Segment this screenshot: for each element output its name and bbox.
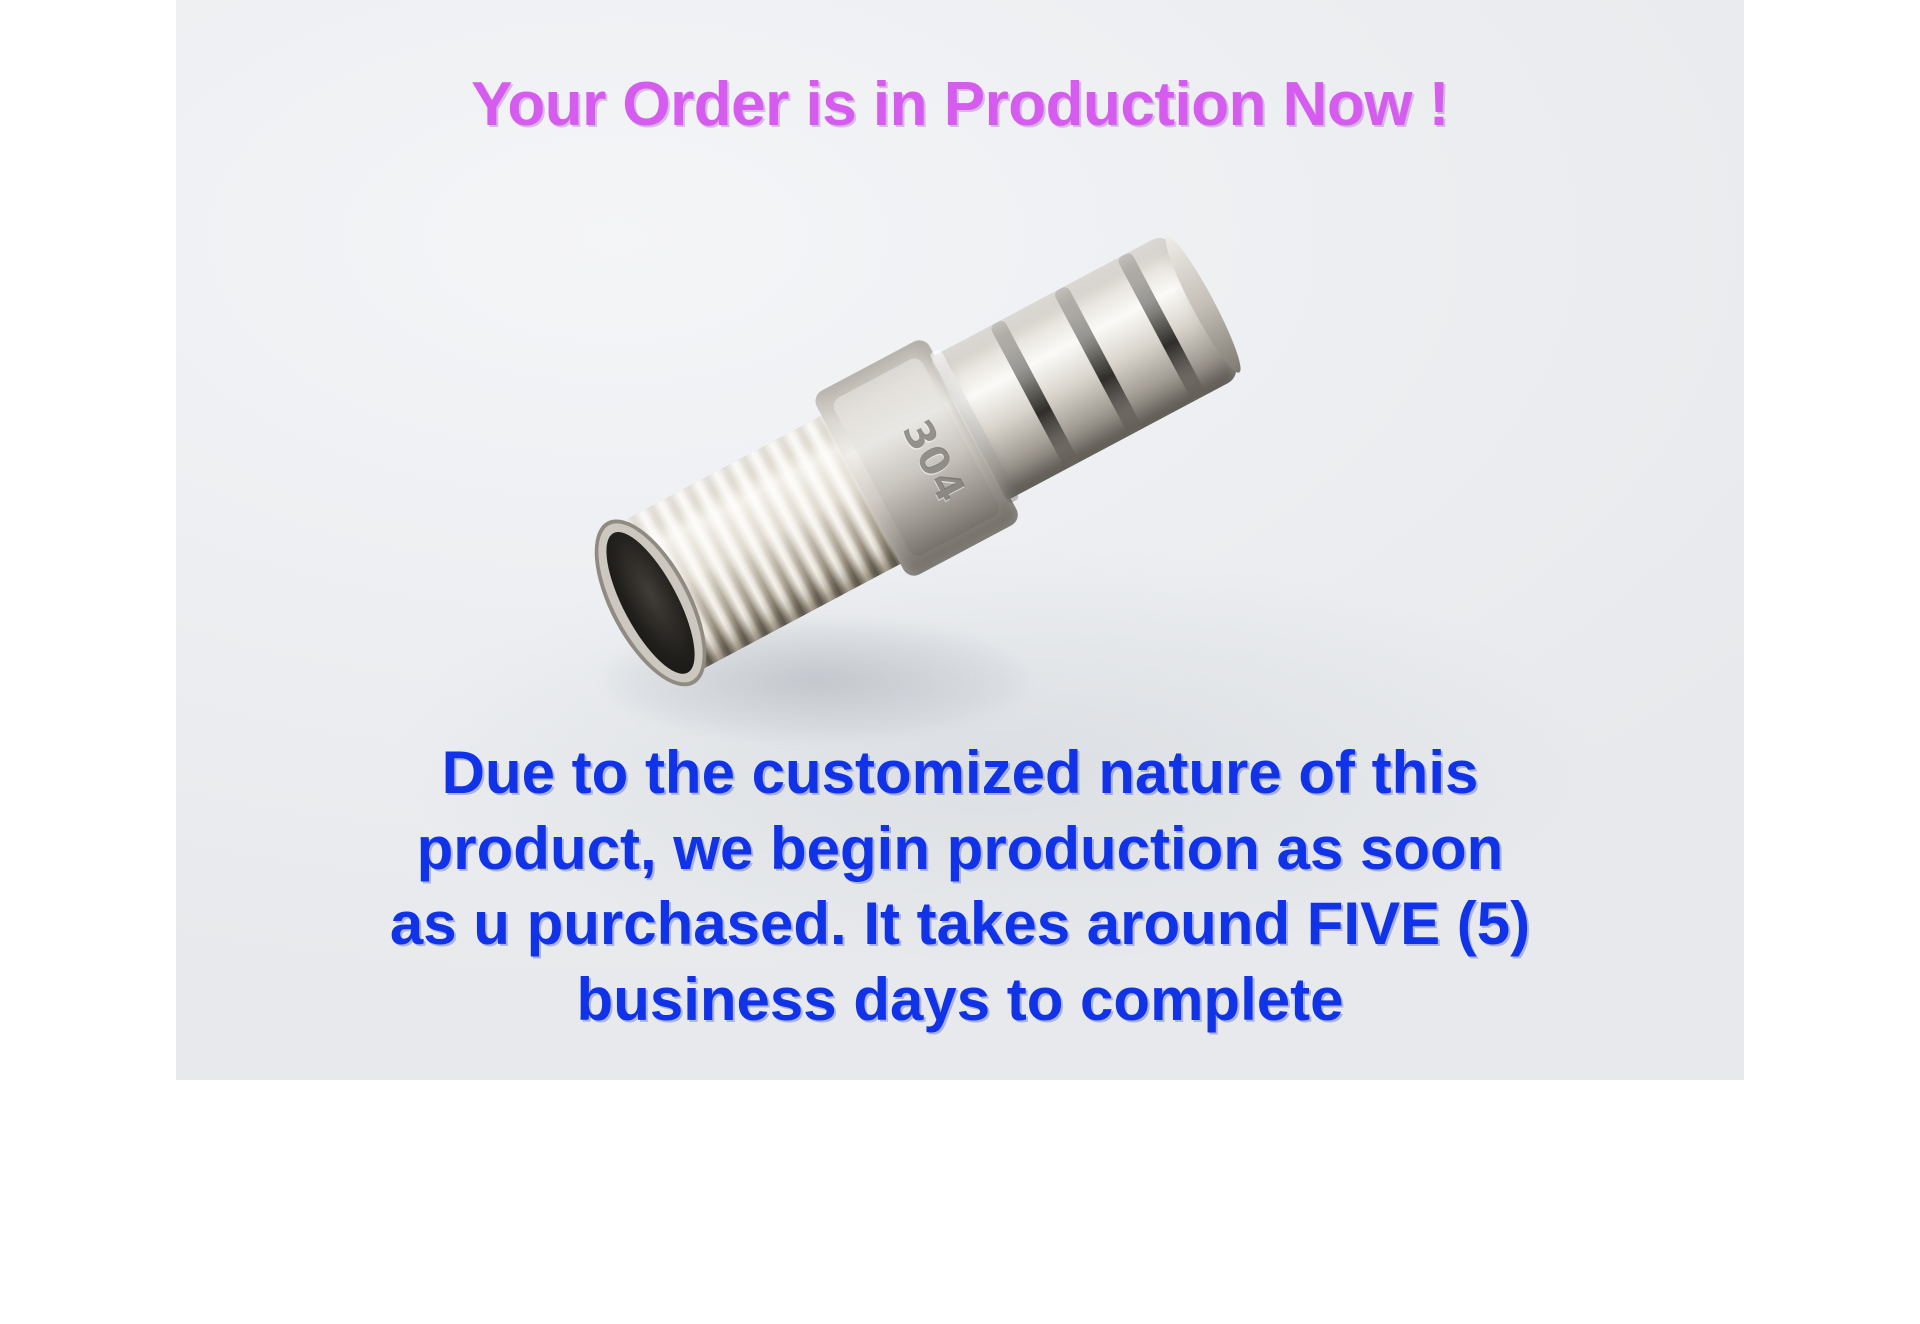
page-title: Your Order is in Production Now !: [176, 72, 1744, 137]
notice-page: Your Order is in Production Now ! 304 Du…: [176, 0, 1744, 1080]
notice-line: as u purchased. It takes around FIVE (5): [240, 886, 1680, 962]
notice-line: Due to the customized nature of this: [240, 735, 1680, 811]
notice-line: product, we begin production as soon: [240, 811, 1680, 887]
production-notice-text: Due to the customized nature of this pro…: [240, 735, 1680, 1037]
notice-line: business days to complete: [240, 962, 1680, 1038]
